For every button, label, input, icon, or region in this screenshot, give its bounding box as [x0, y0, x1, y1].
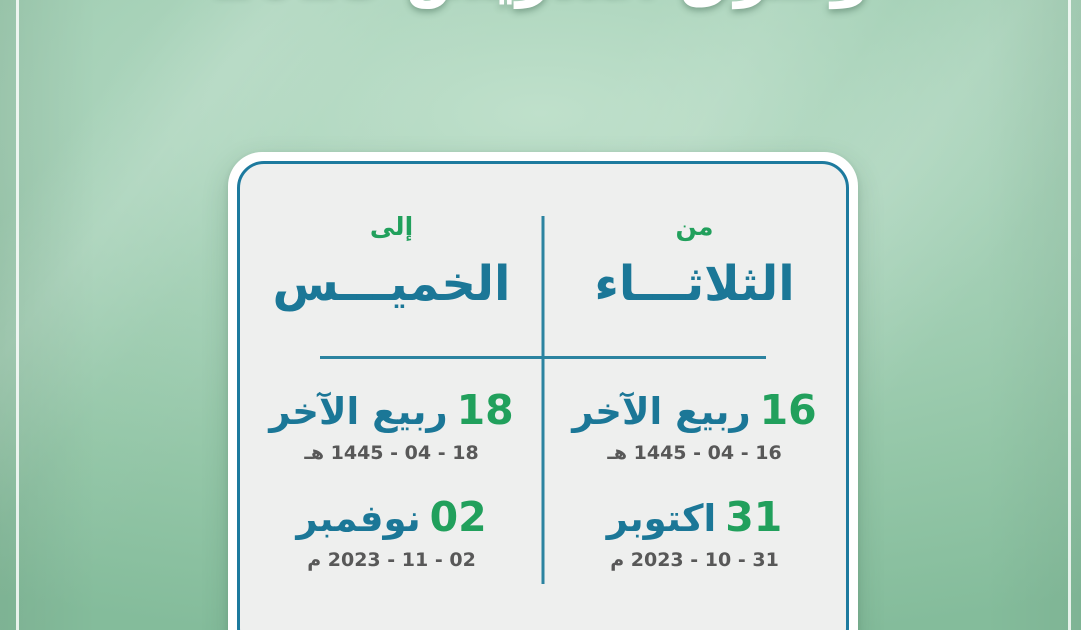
column-from: من الثلاثـــاء 16 ربيع الآخر 16 - 04 - 1… — [543, 164, 846, 630]
to-gregorian-month: نوفمبر — [296, 497, 420, 541]
date-range-card: من الثلاثـــاء 16 ربيع الآخر 16 - 04 - 1… — [228, 152, 858, 630]
from-day-cell: من الثلاثـــاء — [594, 164, 794, 356]
frame-rule-left — [16, 0, 19, 630]
to-gregorian-cell: 02 نوفمبر 02 - 11 - 2023 م — [296, 474, 486, 592]
to-hijri-full: 18 - 04 - 1445 هـ — [304, 442, 478, 465]
to-hijri-main: 18 ربيع الآخر — [269, 388, 513, 434]
to-hijri-day: 18 — [457, 388, 514, 432]
to-gregorian-main: 02 نوفمبر — [296, 495, 486, 541]
frame-rule-right — [1068, 0, 1071, 630]
horizontal-divider — [320, 356, 766, 359]
to-day-cell: إلى الخميـــس — [273, 164, 511, 356]
poster-canvas: وطرق التدريس 2023 من الثلاثـــاء 16 ربيع… — [0, 0, 1081, 630]
from-hijri-month: ربيع الآخر — [572, 390, 750, 434]
to-day-name: الخميـــس — [273, 256, 511, 312]
from-gregorian-full: 31 - 10 - 2023 م — [610, 549, 779, 572]
from-hijri-main: 16 ربيع الآخر — [572, 388, 816, 434]
page-title: وطرق التدريس 2023 — [0, 0, 1081, 10]
from-hijri-cell: 16 ربيع الآخر 16 - 04 - 1445 هـ — [572, 356, 816, 474]
from-gregorian-month: اكتوبر — [607, 497, 716, 541]
to-gregorian-day: 02 — [430, 495, 487, 539]
from-hijri-full: 16 - 04 - 1445 هـ — [607, 442, 781, 465]
to-gregorian-full: 02 - 11 - 2023 م — [307, 549, 476, 572]
from-gregorian-cell: 31 اكتوبر 31 - 10 - 2023 م — [607, 474, 782, 592]
to-label: إلى — [370, 212, 413, 242]
from-day-name: الثلاثـــاء — [594, 256, 794, 312]
from-label: من — [676, 212, 714, 242]
to-hijri-month: ربيع الآخر — [269, 390, 447, 434]
from-gregorian-day: 31 — [725, 495, 782, 539]
date-range-card-inner: من الثلاثـــاء 16 ربيع الآخر 16 - 04 - 1… — [237, 161, 849, 630]
from-hijri-day: 16 — [760, 388, 817, 432]
column-to: إلى الخميـــس 18 ربيع الآخر 18 - 04 - 14… — [240, 164, 543, 630]
to-hijri-cell: 18 ربيع الآخر 18 - 04 - 1445 هـ — [269, 356, 513, 474]
vertical-divider — [542, 216, 545, 584]
from-gregorian-main: 31 اكتوبر — [607, 495, 782, 541]
